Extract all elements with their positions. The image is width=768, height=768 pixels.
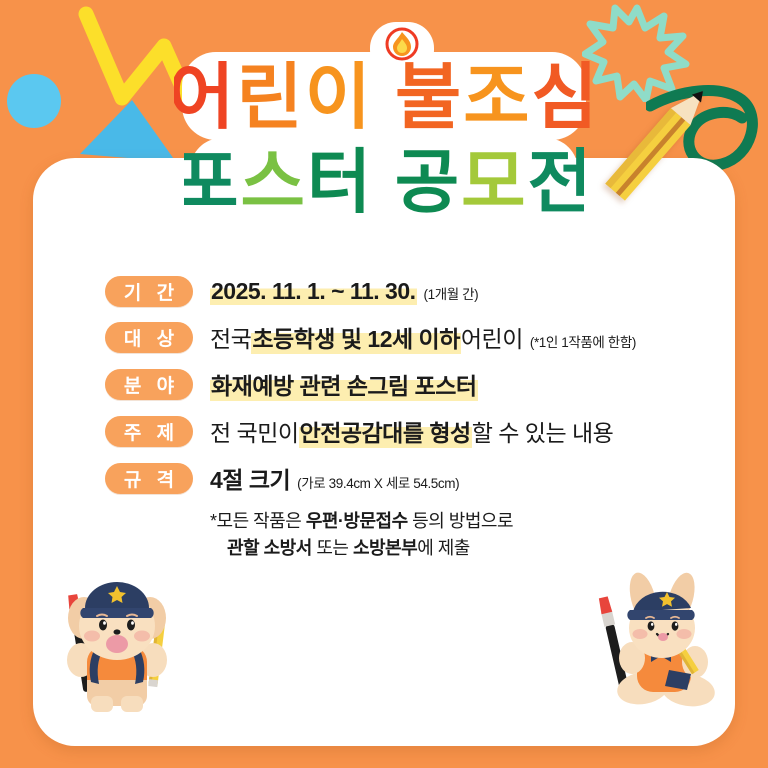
title-line-1: 어린이 불조심 <box>174 18 594 148</box>
title-line-2: 포스터 공모전 <box>184 130 584 230</box>
info-row-value-part: 화재예방 관련 손그림 포스터 <box>210 367 478 401</box>
info-row: 기 간2025. 11. 1. ~ 11. 30.(1개월 간) <box>105 276 685 307</box>
info-row-value: 전 국민이 안전공감대를 형성할 수 있는 내용 <box>210 414 613 448</box>
footnote-2b: 또는 <box>312 538 353 558</box>
info-row-label: 주 제 <box>105 416 193 447</box>
info-row-label: 규 격 <box>105 463 193 494</box>
info-row-value-part: 안전공감대를 형성 <box>299 414 472 448</box>
info-row-label: 기 간 <box>105 276 193 307</box>
poster-canvas: 어린이 불조심 포스터 공모전 기 간2025. 11. 1. ~ 11. 30… <box>0 0 768 768</box>
svg-text:어린이 불조심: 어린이 불조심 <box>174 58 594 138</box>
footnote-1b: 우편·방문접수 <box>306 511 408 531</box>
info-row-value-part: 할 수 있는 내용 <box>472 414 614 448</box>
info-row-value: 2025. 11. 1. ~ 11. 30.(1개월 간) <box>210 278 478 305</box>
info-row-value-part: 전국 <box>210 320 251 354</box>
bear-mascot <box>47 568 187 723</box>
info-row: 규 격4절 크기(가로 39.4cm X 세로 54.5cm) <box>105 461 685 495</box>
info-row-value-part: 4절 크기 <box>210 461 290 495</box>
info-row: 주 제전 국민이 안전공감대를 형성할 수 있는 내용 <box>105 414 685 448</box>
info-row-value-part: 전 국민이 <box>210 414 299 448</box>
footnote-1c: 등의 방법으로 <box>408 511 513 531</box>
footnote-2a: 관할 소방서 <box>227 538 312 558</box>
poster-title: 어린이 불조심 포스터 공모전 <box>0 18 768 230</box>
rabbit-mascot <box>585 566 730 721</box>
info-row-value-part: (1개월 간) <box>424 283 479 303</box>
submission-footnote: *모든 작품은 우편·방문접수 등의 방법으로 관할 소방서 또는 소방본부에 … <box>210 508 685 562</box>
info-row-label: 대 상 <box>105 322 193 353</box>
footnote-line-1: *모든 작품은 우편·방문접수 등의 방법으로 <box>210 508 685 535</box>
footnote-2c: 소방본부 <box>353 538 417 558</box>
info-row-value-part: (가로 39.4cm X 세로 54.5cm) <box>297 472 459 492</box>
info-row-value-part: (*1인 1작품에 한함) <box>530 331 636 351</box>
info-row-value-part: 초등학생 및 12세 이하 <box>251 320 461 354</box>
info-row-value: 4절 크기(가로 39.4cm X 세로 54.5cm) <box>210 461 459 495</box>
info-row-label: 분 야 <box>105 369 193 400</box>
info-row-value-part: 어린이 <box>461 320 523 354</box>
info-row-value: 전국 초등학생 및 12세 이하 어린이(*1인 1작품에 한함) <box>210 320 636 354</box>
info-row-value-part: 2025. 11. 1. ~ 11. 30. <box>210 278 417 305</box>
footnote-1a: *모든 작품은 <box>210 511 306 531</box>
info-row: 분 야화재예방 관련 손그림 포스터 <box>105 367 685 401</box>
info-row: 대 상전국 초등학생 및 12세 이하 어린이(*1인 1작품에 한함) <box>105 320 685 354</box>
svg-text:포스터 공모전: 포스터 공모전 <box>184 143 584 221</box>
footnote-line-2: 관할 소방서 또는 소방본부에 제출 <box>210 535 685 562</box>
info-list: 기 간2025. 11. 1. ~ 11. 30.(1개월 간)대 상전국 초등… <box>105 276 685 562</box>
info-row-value: 화재예방 관련 손그림 포스터 <box>210 367 478 401</box>
footnote-2d: 에 제출 <box>417 538 470 558</box>
